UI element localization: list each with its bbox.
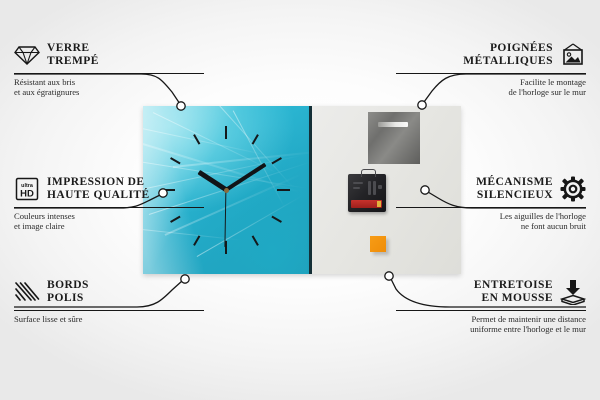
feature-divider: [14, 73, 204, 74]
gear-icon: [560, 176, 586, 202]
feature-title: POIGNÉES MÉTALLIQUES: [463, 42, 553, 67]
feature-entretoise-en-mousse: ENTRETOISE EN MOUSSE Permet de maintenir…: [396, 275, 586, 335]
hanger-slot: [378, 122, 408, 127]
feature-divider: [14, 207, 204, 208]
feature-title: MÉCANISME SILENCIEUX: [476, 176, 553, 201]
feature-title: ENTRETOISE EN MOUSSE: [474, 279, 553, 304]
polished-edges-icon: [14, 279, 40, 305]
diamond-icon: [14, 42, 40, 68]
feature-description: Les aiguilles de l'horloge ne font aucun…: [396, 211, 586, 232]
feature-poignees-metalliques: POIGNÉES MÉTALLIQUES Facilite le montage…: [396, 38, 586, 98]
feature-title: BORDS POLIS: [47, 279, 89, 304]
feature-divider: [396, 73, 586, 74]
feature-description: Couleurs intenses et image claire: [14, 211, 204, 232]
quartz-mechanism: [348, 174, 386, 212]
feature-description: Permet de maintenir une distance uniform…: [396, 314, 586, 335]
feature-description: Facilite le montage de l'horloge sur le …: [396, 77, 586, 98]
product-infographic: VERRE TREMPÉ Résistant aux bris et aux é…: [0, 0, 600, 400]
feature-description: Résistant aux bris et aux égratignures: [14, 77, 204, 98]
feature-impression-haute-qualite: ultra HD IMPRESSION DE HAUTE QUALITÉ Cou…: [14, 172, 204, 232]
feature-divider: [14, 310, 204, 311]
svg-text:HD: HD: [20, 189, 34, 200]
feature-description: Surface lisse et sûre: [14, 314, 204, 324]
feature-verre-trempe: VERRE TREMPÉ Résistant aux bris et aux é…: [14, 38, 204, 98]
foam-spacer-icon: [560, 279, 586, 305]
feature-mecanisme-silencieux: MÉCANISME SILENCIEUX: [396, 172, 586, 232]
battery-terminal: [377, 201, 381, 207]
feature-title: VERRE TREMPÉ: [47, 42, 99, 67]
foam-spacer: [370, 236, 386, 252]
metal-hanger-plate: [368, 112, 420, 164]
wall-frame-icon: [560, 42, 586, 68]
feature-title: IMPRESSION DE HAUTE QUALITÉ: [47, 176, 150, 201]
clock-center-cap: [224, 188, 229, 193]
mechanism-hanger-loop: [361, 169, 376, 177]
feature-divider: [396, 207, 586, 208]
feature-bords-polis: BORDS POLIS Surface lisse et sûre: [14, 275, 204, 324]
feature-divider: [396, 310, 586, 311]
battery: [351, 200, 382, 208]
ultra-hd-icon: ultra HD: [14, 176, 40, 202]
